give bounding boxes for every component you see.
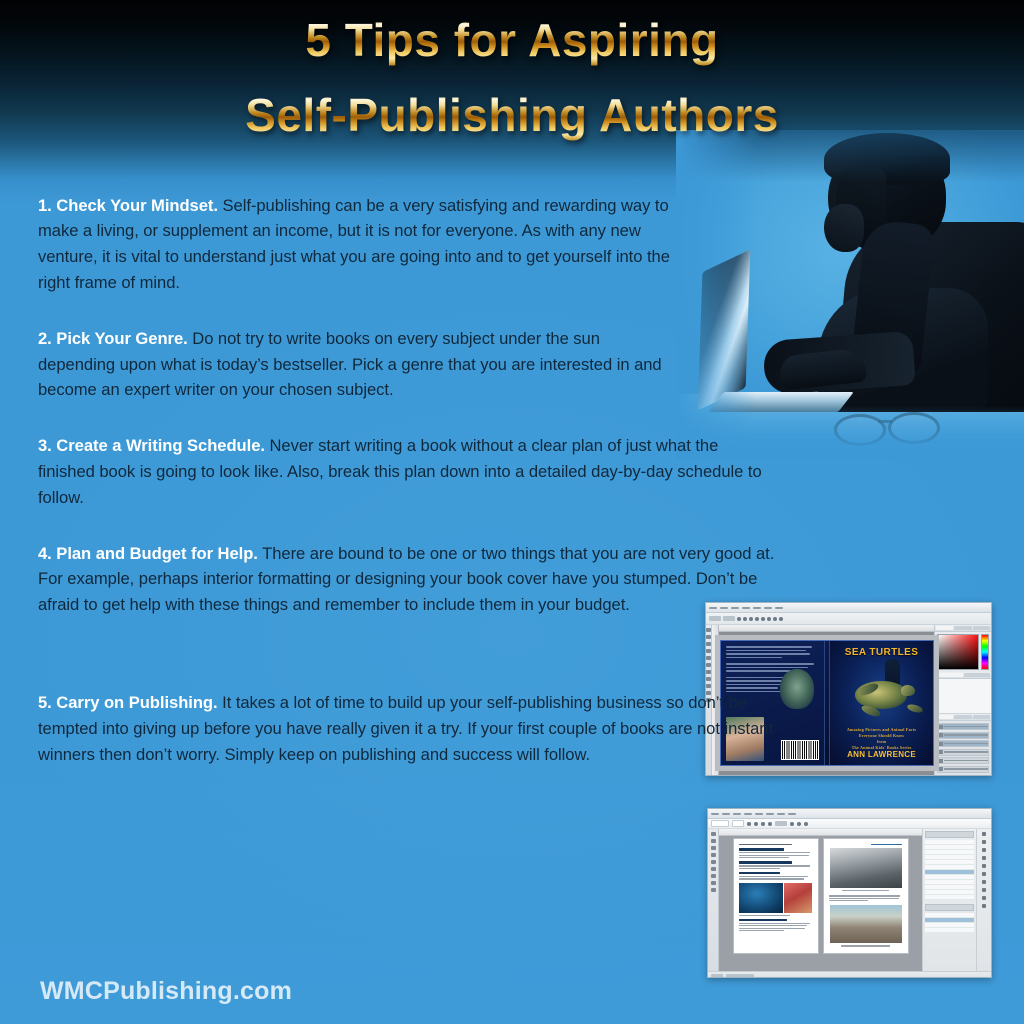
tip-5-heading: 5. Carry on Publishing. (38, 693, 218, 712)
layer-thumbnail (939, 725, 943, 729)
layer-name (944, 768, 988, 770)
tab-swatches[interactable] (954, 626, 971, 630)
tab-paths[interactable] (973, 715, 990, 719)
align-left-button[interactable] (761, 822, 765, 826)
selection-tool-icon[interactable] (711, 832, 716, 836)
menu-item-icon (722, 813, 730, 815)
zoom-level-display[interactable] (726, 974, 754, 979)
color-panel-icon[interactable] (982, 856, 986, 860)
book-front-cover: SEA TURTLES Amazing Pictures and Ani (830, 641, 933, 765)
links-panel-icon[interactable] (982, 840, 986, 844)
line-tool-icon[interactable] (711, 860, 716, 864)
tip-item-4: 4. Plan and Budget for Help. There are b… (38, 541, 790, 618)
type-tool-icon[interactable] (711, 853, 716, 857)
horizontal-ruler (719, 829, 922, 836)
document-page-right[interactable] (823, 838, 909, 954)
body-line (739, 923, 810, 924)
body-line (829, 900, 869, 901)
layer-row[interactable] (937, 749, 989, 756)
bold-button[interactable] (747, 822, 751, 826)
menu-item-icon (788, 813, 796, 815)
section-heading (739, 919, 788, 922)
italic-button[interactable] (754, 822, 758, 826)
table-panel-icon[interactable] (982, 888, 986, 892)
tab-channels[interactable] (954, 715, 971, 719)
turtle-flipper (906, 703, 923, 714)
turtle-flipper (860, 704, 882, 719)
align-center-button[interactable] (768, 822, 772, 826)
figure-caption (739, 915, 791, 916)
menu-item-icon (744, 813, 752, 815)
layout-editor-toolbar (708, 819, 991, 829)
layer-name (944, 760, 988, 762)
body-line (739, 855, 809, 856)
layers-panel-header[interactable] (925, 904, 974, 911)
tab-actions[interactable] (964, 673, 991, 677)
body-line (739, 930, 785, 931)
layer-row[interactable] (937, 732, 989, 739)
layout-editor-panels (922, 829, 976, 971)
color-panel-tabs[interactable] (935, 625, 991, 632)
insert-table-button[interactable] (797, 822, 801, 826)
tips-list: 1. Check Your Mindset. Self-publishing c… (38, 176, 828, 784)
sea-turtle-image (855, 681, 907, 709)
history-panel-tabs[interactable] (935, 672, 991, 679)
tip-item-3: 3. Create a Writing Schedule. Never star… (38, 433, 778, 510)
layout-editor-body (708, 829, 991, 971)
color-picker-panel[interactable] (935, 632, 991, 672)
direct-selection-tool-icon[interactable] (711, 839, 716, 843)
body-line (739, 928, 806, 929)
tab-color[interactable] (936, 626, 953, 630)
library-panel-icon[interactable] (982, 904, 986, 908)
turtle-flipper (856, 681, 880, 698)
font-family-select[interactable] (711, 820, 729, 827)
cover-title: SEA TURTLES (830, 647, 933, 658)
body-line (739, 925, 808, 926)
style-list-item[interactable] (925, 895, 974, 900)
align-panel-icon[interactable] (982, 880, 986, 884)
tab-history[interactable] (936, 673, 963, 677)
running-header (739, 844, 792, 845)
coral-photo (784, 883, 812, 913)
stroke-weight-control[interactable] (775, 821, 787, 826)
page-title-line-1: 5 Tips for Aspiring (0, 14, 1024, 67)
layout-editor-toolbox (708, 829, 719, 971)
layout-editor-statusbar (708, 971, 991, 978)
hand-tool-icon[interactable] (711, 881, 716, 885)
footer-brand: WMCPublishing.com (40, 977, 292, 1006)
paragraph-styles-panel-header[interactable] (925, 831, 974, 838)
layer-row[interactable] (937, 740, 989, 747)
body-line (739, 876, 809, 877)
document-page-left[interactable] (733, 838, 819, 954)
layout-editor-panel-dock (976, 829, 991, 971)
page-image-row (739, 883, 813, 913)
layer-row[interactable] (937, 757, 989, 764)
layer-name (944, 726, 988, 728)
tip-item-5: 5. Carry on Publishing. It takes a lot o… (38, 690, 808, 767)
layer-thumbnail (939, 759, 943, 763)
cover-author-name: ANN LAWRENCE (830, 750, 933, 759)
tip-3-heading: 3. Create a Writing Schedule. (38, 436, 265, 455)
section-heading (739, 861, 792, 864)
body-line (739, 857, 789, 858)
layer-thumbnail (939, 750, 943, 754)
page-number-display[interactable] (711, 974, 723, 979)
section-heading (739, 872, 780, 875)
list-button[interactable] (790, 822, 794, 826)
running-header (871, 844, 902, 845)
color-saturation-field[interactable] (937, 634, 979, 670)
body-line (739, 868, 780, 869)
layer-list-item[interactable] (925, 928, 974, 933)
tab-styles[interactable] (973, 626, 990, 630)
tip-4-heading: 4. Plan and Budget for Help. (38, 544, 258, 563)
layer-name (944, 751, 988, 753)
scissors-tool-icon[interactable] (711, 874, 716, 878)
info-panel-icon[interactable] (982, 896, 986, 900)
jellyfish-photo (739, 883, 783, 913)
body-line (739, 852, 811, 853)
layout-editor-pages-area[interactable] (719, 829, 922, 971)
section-heading (739, 848, 785, 851)
figure-caption (842, 890, 889, 891)
menu-item-icon (755, 813, 763, 815)
layer-thumbnail (939, 742, 943, 746)
zoom-tool-icon[interactable] (711, 888, 716, 892)
layer-name (944, 743, 988, 745)
layer-name (944, 734, 988, 736)
cover-editor-panels (934, 625, 991, 776)
stroke-panel-icon[interactable] (982, 848, 986, 852)
body-line (739, 865, 810, 866)
cover-artwork (841, 673, 923, 717)
page-title: 5 Tips for Aspiring Self-Publishing Auth… (0, 14, 1024, 143)
font-size-select[interactable] (732, 820, 744, 827)
tab-layers[interactable] (936, 715, 953, 719)
layers-panel-tabs[interactable] (935, 714, 991, 721)
insert-image-button[interactable] (804, 822, 808, 826)
turtle-beach-photo (830, 905, 902, 943)
menu-item-icon (733, 813, 741, 815)
hatchling-turtle-photo (830, 848, 902, 888)
body-line (829, 898, 899, 899)
tip-item-2: 2. Pick Your Genre. Do not try to write … (38, 326, 678, 403)
tip-1-heading: 1. Check Your Mindset. (38, 196, 218, 215)
layers-panel[interactable] (935, 721, 991, 776)
tip-item-1: 1. Check Your Mindset. Self-publishing c… (38, 193, 678, 296)
layer-thumbnail (939, 767, 943, 771)
layer-row[interactable] (937, 723, 989, 730)
layer-thumbnail (939, 733, 943, 737)
pages-panel-icon[interactable] (982, 832, 986, 836)
hue-slider[interactable] (981, 634, 989, 670)
page-title-line-2: Self-Publishing Authors (0, 89, 1024, 142)
history-panel-list[interactable] (935, 679, 991, 714)
figure-caption (841, 945, 890, 946)
text-wrap-panel-icon[interactable] (982, 872, 986, 876)
menu-item-icon (777, 813, 785, 815)
menu-item-icon (766, 813, 774, 815)
tip-2-heading: 2. Pick Your Genre. (38, 329, 188, 348)
layout-editor-titlebar (708, 809, 991, 819)
infographic-canvas: 5 Tips for Aspiring Self-Publishing Auth… (0, 0, 1024, 1024)
body-line (739, 878, 804, 879)
layout-editor-screenshot (707, 808, 992, 978)
rectangle-tool-icon[interactable] (711, 867, 716, 871)
effects-panel-icon[interactable] (982, 864, 986, 868)
turtle-head (901, 685, 915, 696)
layer-row[interactable] (937, 766, 989, 773)
man-hand-on-forehead (824, 204, 864, 252)
menu-item-icon (711, 813, 719, 815)
pen-tool-icon[interactable] (711, 846, 716, 850)
body-line (829, 895, 901, 896)
cover-subtitle: Amazing Pictures and Animal Facts Everyo… (830, 727, 933, 751)
